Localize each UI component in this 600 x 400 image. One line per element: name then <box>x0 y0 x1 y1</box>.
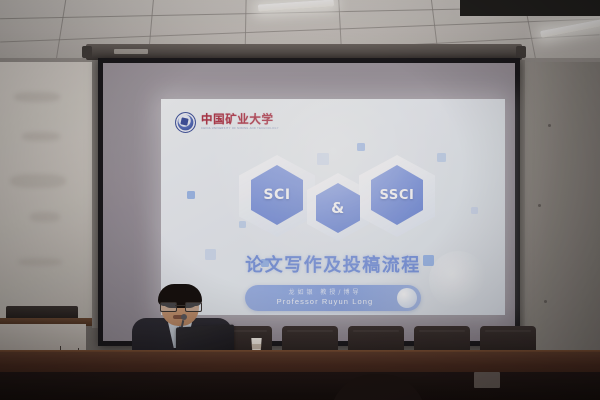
glasses-icon <box>160 302 200 310</box>
lecture-hall-photo: 中国矿业大学 CHINA UNIVERSITY OF MINING AND TE… <box>0 0 600 400</box>
paper-cup-band <box>250 344 263 349</box>
hexagon-ssci-label: SSCI <box>380 188 415 203</box>
whiteboard <box>0 62 92 324</box>
ceiling-vent <box>460 0 600 16</box>
foreground-shadow <box>0 372 600 400</box>
hexagon-group: SCI & SSCI <box>161 151 505 241</box>
hexagon-ampersand-label: & <box>331 199 345 217</box>
banner-knob-icon <box>397 288 417 308</box>
university-name-english: CHINA UNIVERSITY OF MINING AND TECHNOLOG… <box>201 128 279 131</box>
university-name-chinese: 中国矿业大学 <box>201 114 279 126</box>
university-logo: 中国矿业大学 CHINA UNIVERSITY OF MINING AND TE… <box>175 112 279 133</box>
projected-slide: 中国矿业大学 CHINA UNIVERSITY OF MINING AND TE… <box>161 99 505 315</box>
foreground-paper <box>474 372 500 388</box>
presenter-name-english: Professor Ruyun Long <box>277 297 374 307</box>
university-seal-icon <box>175 112 196 133</box>
slide-watermark <box>429 251 487 309</box>
decor-square <box>357 143 365 151</box>
hexagon-sci-label: SCI <box>263 187 290 203</box>
presenter-name-chinese: 龙如银 教授/博导 <box>289 289 362 297</box>
presenter-banner: 龙如银 教授/博导 Professor Ruyun Long <box>245 285 421 311</box>
housing-brand-label <box>114 49 148 54</box>
right-wall <box>522 62 600 362</box>
